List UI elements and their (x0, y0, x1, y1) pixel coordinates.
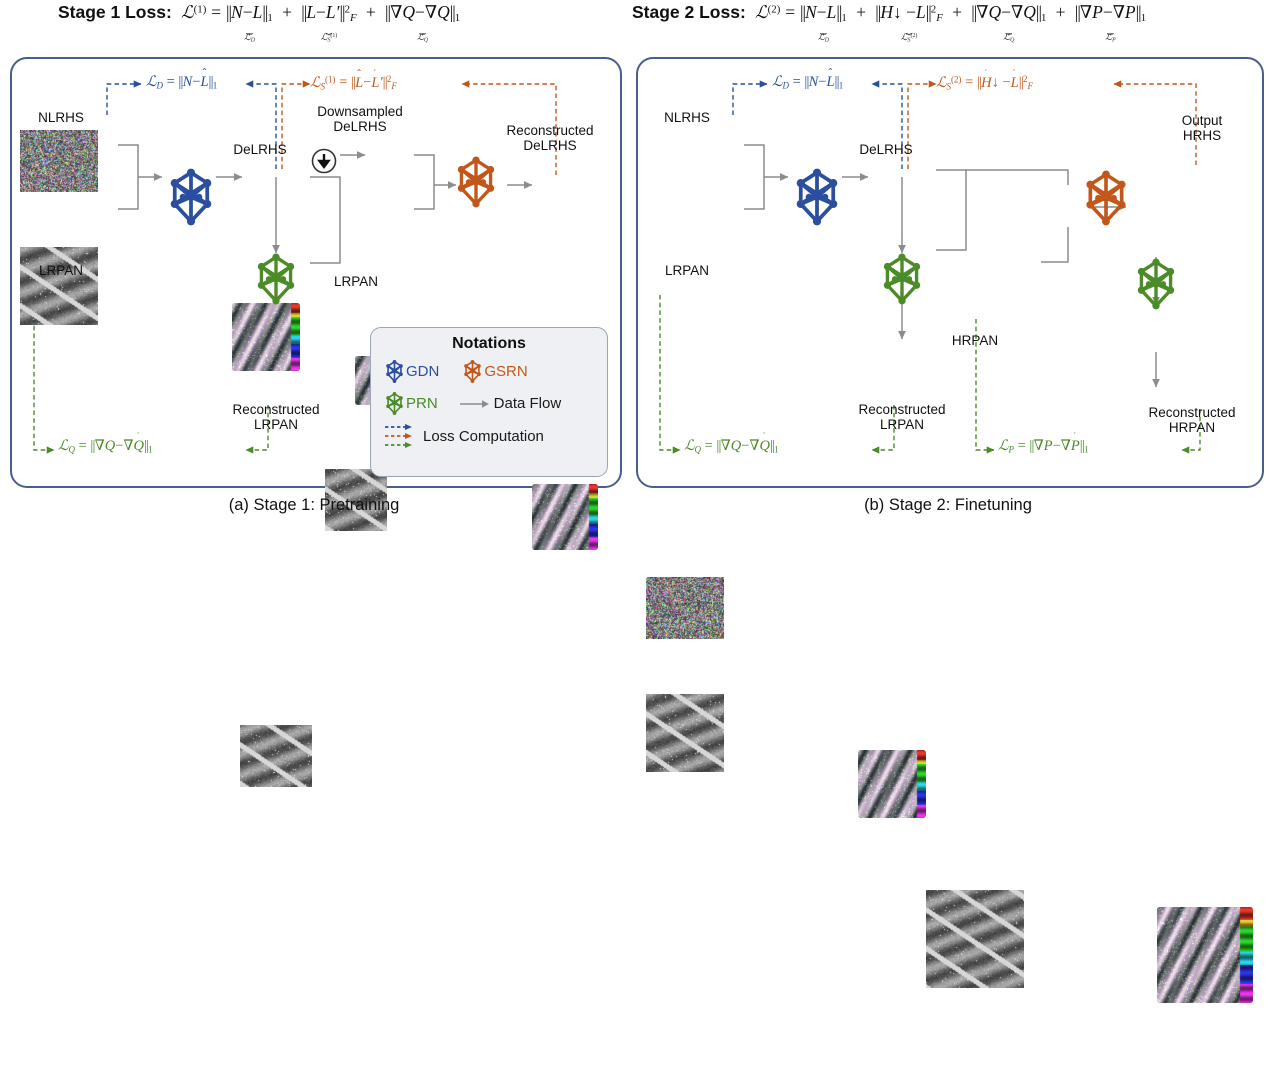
stage1-loss-D: ℒD = ||N−ˆL||1 (146, 74, 217, 91)
stage2-hrpan-label: HRPAN (926, 334, 1024, 349)
stage1-term-2: ||ˆL−˙L′||2F ⏟ ℒS(1) (301, 2, 356, 25)
stage2-delrhs-label: DeLRHS (831, 143, 941, 158)
stage2-recon-lrpan-label: Reconstructed LRPAN (847, 403, 957, 432)
underbrace-1: ⏟ (226, 25, 273, 32)
arrow-icon (460, 398, 490, 410)
stage2-term-3: ||∇Q−∇˙Q||1 ⏟ ℒQ (971, 2, 1046, 25)
stage2-term-1-label: ℒD (800, 32, 847, 44)
stage1-delrhs-tile (232, 303, 300, 371)
underbrace-2: ⏟ (301, 25, 356, 32)
stage2-recon-hrpan-label: Reconstructed HRPAN (1136, 406, 1248, 435)
network-icon (162, 168, 220, 226)
stage2-term-4: ||∇P−∇˙P||1 ⏟ ℒP (1075, 2, 1146, 25)
stage1-nlrhs-label: NLRHS (16, 111, 106, 126)
network-icon (383, 392, 406, 415)
stage1-delrhs-label: DeLRHS (205, 143, 315, 158)
stage2-output-hrhs-tile (1157, 907, 1253, 1003)
stage2-delrhs-tile (858, 750, 926, 818)
legend-label-dataflow: Data Flow (494, 396, 562, 411)
stage1-recon-delrhs-tile (532, 484, 598, 550)
stage1-downsampled-label: Downsampled DeLRHS (300, 105, 420, 134)
stage1-term-2-label: ℒS(1) (301, 32, 356, 44)
stage2-prn-left-icon (876, 253, 928, 305)
stage1-equation-lead: Stage 1 Loss: (58, 2, 172, 22)
stage2-lrpan-in-label: LRPAN (642, 264, 732, 279)
stage2-term-4-label: ℒP (1075, 32, 1146, 44)
stage1-caption: (a) Stage 1: Pretraining (10, 496, 618, 515)
notations-legend: Notations GDN GSRN PRN Data Flow (370, 327, 608, 477)
stage1-gsrn-icon (450, 156, 502, 208)
stage2-prn-right-icon (1130, 258, 1182, 310)
underbrace-1: ⏟ (800, 25, 847, 32)
legend-label-losscomp: Loss Computation (423, 429, 544, 444)
stage2-loss-D: ℒD = ||N−ˆL||1 (772, 74, 843, 91)
stage2-gdn-icon (788, 168, 846, 226)
stage2-caption: (b) Stage 2: Finetuning (636, 496, 1260, 515)
network-icon (383, 360, 406, 383)
stage1-downsample-operator (310, 147, 338, 180)
stage2-term-1: ||N−ˆL||1 ⏟ ℒD (800, 2, 847, 25)
stage2-gsrn-icon (1078, 170, 1134, 226)
stage1-recon-lrpan-label: Reconstructed LRPAN (221, 403, 331, 432)
stage1-nlrhs-tile (20, 130, 98, 192)
stage2-loss-S: ℒS(2) = ||˙H↓ −˙L||2F (936, 74, 1033, 92)
stage1-recon-lrpan-tile (240, 725, 312, 787)
stage1-term-1: ||N−ˆL||1 ⏟ ℒD (226, 2, 273, 25)
underbrace-2: ⏟ (875, 25, 943, 32)
stage1-lrpan-in-tile (20, 247, 98, 325)
stage1-loss-Q: ℒQ = ||∇Q−∇˙Q||1 (58, 438, 153, 455)
down-arrow-circle-icon (310, 147, 338, 175)
stage2-loss-P: ℒP = ||∇P−∇˙P||1 (998, 438, 1088, 455)
stage1-lrpan-in-label: LRPAN (16, 264, 106, 279)
legend-title: Notations (371, 335, 607, 353)
legend-label-gsrn: GSRN (484, 364, 527, 379)
stage1-lrpan-mid-label: LRPAN (316, 275, 396, 290)
stage1-loss-S: ℒS(1) = ||ˆL−˙L′||2F (310, 74, 397, 92)
stage1-term-3-label: ℒQ (385, 32, 460, 44)
stage1-term-1-label: ℒD (226, 32, 273, 44)
network-icon (876, 253, 928, 305)
network-icon (1130, 258, 1182, 310)
network-icon (250, 253, 302, 305)
stage2-lrpan-in-tile (646, 694, 724, 772)
stage2-nlrhs-label: NLRHS (642, 111, 732, 126)
stage1-prn-icon (250, 253, 302, 305)
network-icon (461, 360, 484, 383)
stage1-top-equation: Stage 1 Loss: ℒ(1) = ||N−ˆL||1 ⏟ ℒD + ||… (58, 2, 460, 25)
network-icon (1078, 170, 1134, 226)
underbrace-4: ⏟ (1075, 25, 1146, 32)
stage2-term-2-label: ℒS(2) (875, 32, 943, 44)
stage2-loss-Q: ℒQ = ||∇Q−∇˙Q||1 (684, 438, 779, 455)
legend-label-gdn: GDN (406, 364, 439, 379)
network-icon (788, 168, 846, 226)
stage2-nlrhs-tile (646, 577, 724, 639)
stage1-gdn-icon (162, 168, 220, 226)
legend-label-prn: PRN (406, 396, 438, 411)
stage2-output-hrhs-label: Output HRHS (1148, 114, 1256, 143)
stage2-term-3-label: ℒQ (971, 32, 1046, 44)
underbrace-3: ⏟ (971, 25, 1046, 32)
stage1-recon-delrhs-label: Reconstructed DeLRHS (490, 124, 610, 153)
stage2-top-equation: Stage 2 Loss: ℒ(2) = ||N−ˆL||1 ⏟ ℒD + ||… (632, 2, 1146, 25)
stage2-term-2: ||˙H↓ −˙L||2F ⏟ ℒS(2) (875, 2, 943, 25)
stage2-equation-lead: Stage 2 Loss: (632, 2, 746, 22)
dashed-arrows-icon (385, 423, 415, 449)
underbrace-3: ⏟ (385, 25, 460, 32)
stage2-hrpan-tile (926, 890, 1024, 988)
stage1-term-3: ||∇Q−∇˙Q||1 ⏟ ℒQ (385, 2, 460, 25)
network-icon (450, 156, 502, 208)
